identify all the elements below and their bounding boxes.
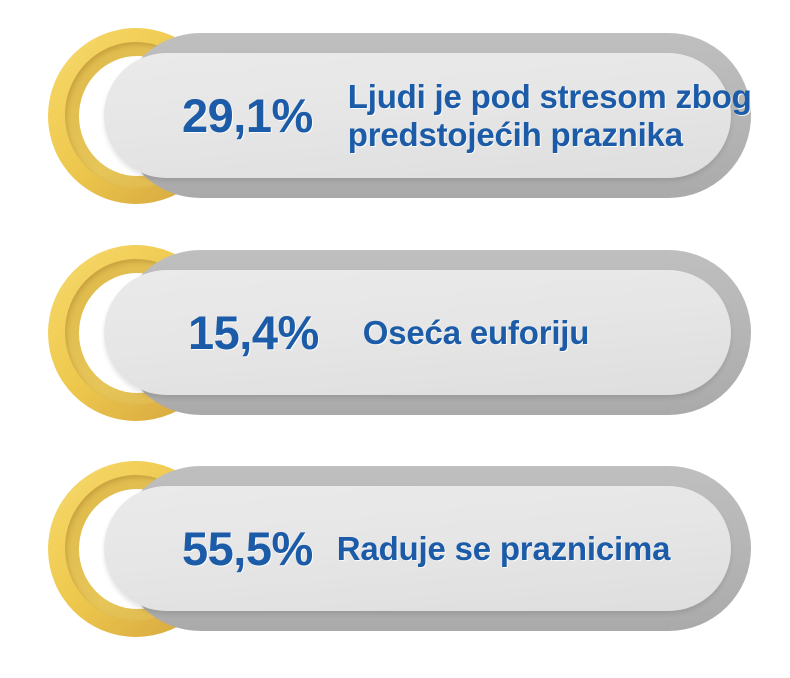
stat-row: 29,1% Ljudi je pod stresom zbog predstoj… [0,20,790,210]
stat-label: Oseća euforiju [363,314,589,352]
stat-row: 55,5% Raduje se praznicima [0,453,790,643]
stat-label: Raduje se praznicima [337,530,670,568]
bar-front-plate: 29,1% Ljudi je pod stresom zbog predstoj… [104,53,731,178]
stat-percent: 29,1% [182,92,313,139]
stat-percent: 55,5% [182,525,313,572]
bar-front-plate: 15,4% Oseća euforiju [104,270,731,395]
bar-front-plate: 55,5% Raduje se praznicima [104,486,731,611]
stat-percent: 15,4% [188,309,319,356]
infographic-root: 29,1% Ljudi je pod stresom zbog predstoj… [0,0,790,678]
stat-label: Ljudi je pod stresom zbog predstojećih p… [348,78,790,153]
stat-row: 15,4% Oseća euforiju [0,237,790,427]
